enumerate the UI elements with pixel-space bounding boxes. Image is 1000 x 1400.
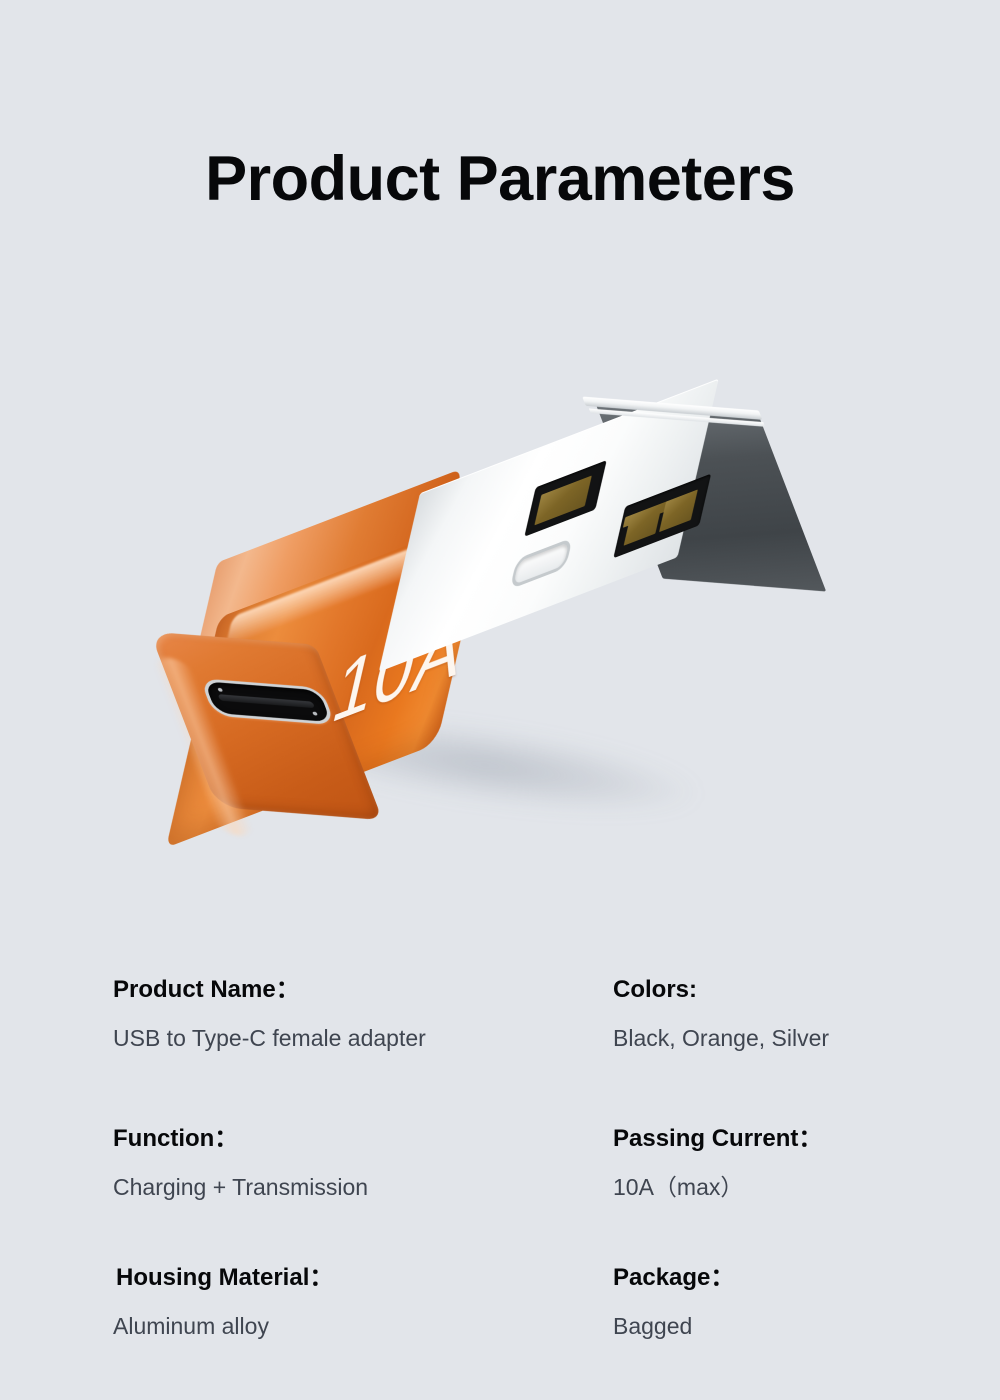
usb-c-contact-dot: [312, 712, 318, 716]
spec-item-function: Function： Charging + Transmission: [113, 1127, 613, 1199]
spec-value: Bagged: [613, 1315, 913, 1338]
spec-value: Charging + Transmission: [113, 1176, 613, 1199]
usb-c-tongue: [218, 694, 315, 708]
spec-row: Product Name： USB to Type-C female adapt…: [113, 978, 913, 1050]
spec-row: Housing Material： Aluminum alloy Package…: [113, 1266, 913, 1338]
usb-a-plug: [420, 375, 798, 676]
spec-row: Function： Charging + Transmission Passin…: [113, 1127, 913, 1199]
spec-item-housing-material: Housing Material： Aluminum alloy: [113, 1266, 613, 1338]
spec-label: Product Name：: [113, 978, 613, 1002]
spec-label: Package：: [613, 1266, 913, 1290]
spec-row-spacer: [113, 1199, 913, 1266]
spec-item-passing-current: Passing Current： 10A（max）: [613, 1127, 913, 1199]
spec-value: USB to Type-C female adapter: [113, 1027, 613, 1050]
spec-value: Aluminum alloy: [113, 1315, 613, 1338]
spec-label: Function：: [113, 1127, 613, 1151]
spec-label: Colors:: [613, 978, 913, 1002]
spec-label: Passing Current：: [613, 1127, 913, 1151]
page-title: Product Parameters: [0, 148, 1000, 211]
spec-value: Black, Orange, Silver: [613, 1027, 913, 1050]
spec-value: 10A（max）: [613, 1176, 913, 1199]
spec-row-spacer: [113, 1050, 913, 1127]
specification-list: Product Name： USB to Type-C female adapt…: [113, 978, 913, 1338]
spec-item-package: Package： Bagged: [613, 1266, 913, 1338]
usb-c-contact-dot: [217, 688, 223, 692]
spec-item-colors: Colors: Black, Orange, Silver: [613, 978, 913, 1050]
spec-label: Housing Material：: [116, 1266, 613, 1290]
product-hero-image: 10A: [0, 300, 1000, 880]
spec-item-product-name: Product Name： USB to Type-C female adapt…: [113, 978, 613, 1050]
product-parameters-page: Product Parameters: [0, 0, 1000, 1400]
